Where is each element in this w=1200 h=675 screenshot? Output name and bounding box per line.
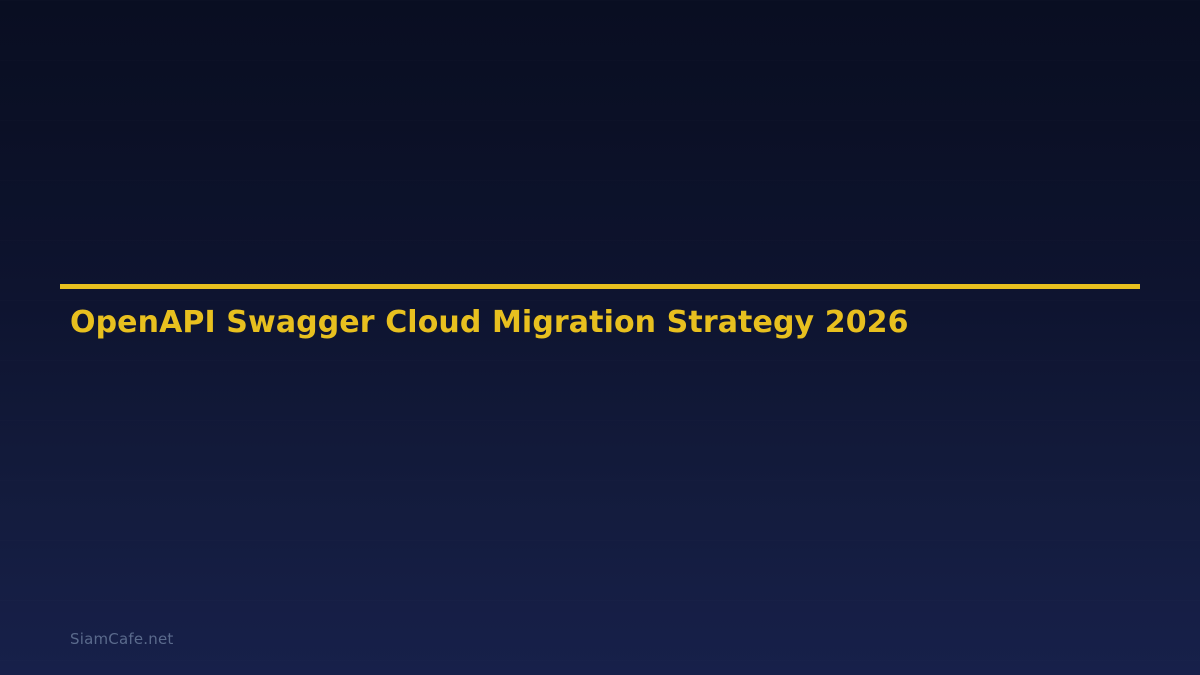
title-slide: OpenAPI Swagger Cloud Migration Strategy… [0,0,1200,675]
footer-attribution: SiamCafe.net [70,630,173,648]
page-title: OpenAPI Swagger Cloud Migration Strategy… [70,305,909,340]
accent-bar [60,284,1140,289]
title-block: OpenAPI Swagger Cloud Migration Strategy… [60,284,1140,289]
